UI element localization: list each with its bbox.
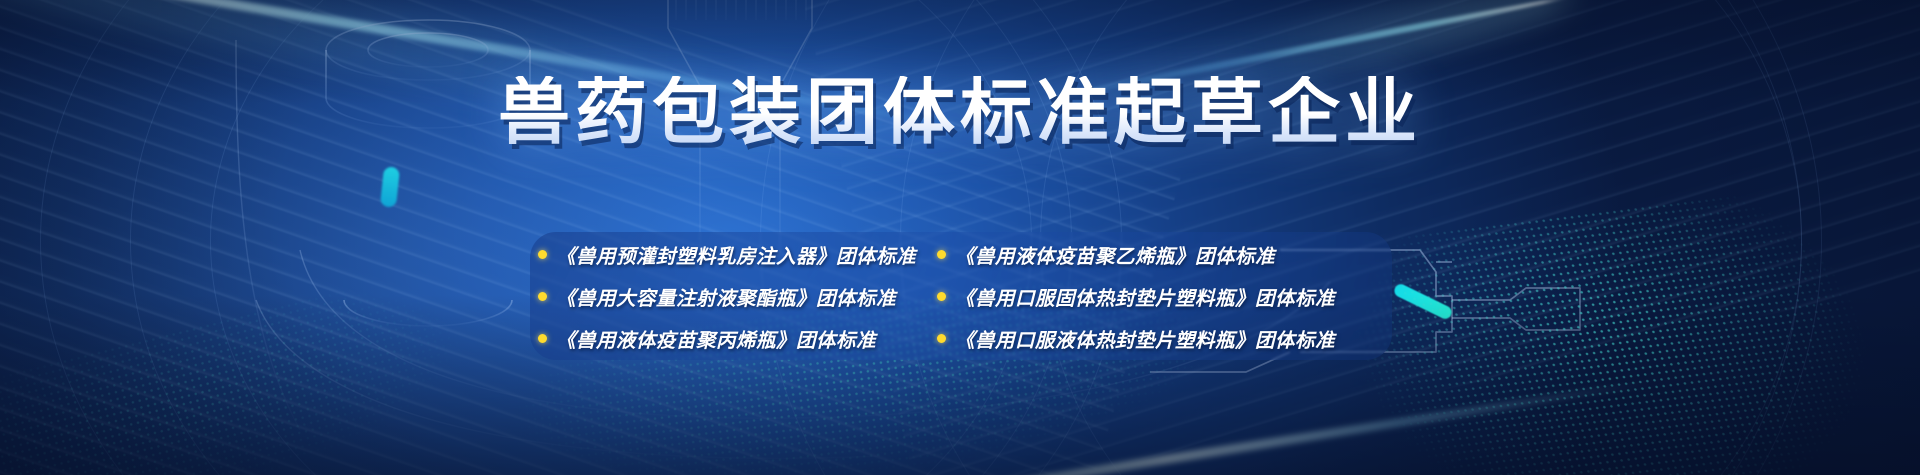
bullet-icon	[538, 334, 547, 343]
veterinary-packaging-standards-banner: 兽药包装团体标准起草企业 《兽用预灌封塑料乳房注入器》团体标准 《兽用大容量注射…	[0, 0, 1920, 475]
standards-column-right: 《兽用液体疫苗聚乙烯瓶》团体标准 《兽用口服固体热封垫片塑料瓶》团体标准 《兽用…	[925, 233, 1392, 359]
list-item: 《兽用口服液体热封垫片塑料瓶》团体标准	[937, 317, 1392, 359]
banner-content: 兽药包装团体标准起草企业 《兽用预灌封塑料乳房注入器》团体标准 《兽用大容量注射…	[0, 0, 1920, 475]
standard-label: 《兽用液体疫苗聚乙烯瓶》团体标准	[955, 240, 1275, 269]
list-item: 《兽用液体疫苗聚丙烯瓶》团体标准	[538, 317, 925, 359]
standard-label: 《兽用口服固体热封垫片塑料瓶》团体标准	[955, 282, 1335, 311]
bullet-icon	[538, 292, 547, 301]
bullet-icon	[937, 250, 946, 259]
list-item: 《兽用口服固体热封垫片塑料瓶》团体标准	[937, 275, 1392, 317]
list-item: 《兽用大容量注射液聚酯瓶》团体标准	[538, 275, 925, 317]
standard-label: 《兽用大容量注射液聚酯瓶》团体标准	[556, 282, 896, 311]
bullet-icon	[538, 250, 547, 259]
list-item: 《兽用预灌封塑料乳房注入器》团体标准	[538, 233, 925, 275]
standards-column-left: 《兽用预灌封塑料乳房注入器》团体标准 《兽用大容量注射液聚酯瓶》团体标准 《兽用…	[530, 233, 925, 359]
standard-label: 《兽用口服液体热封垫片塑料瓶》团体标准	[955, 324, 1335, 353]
standard-label: 《兽用液体疫苗聚丙烯瓶》团体标准	[556, 324, 876, 353]
standards-panel: 《兽用预灌封塑料乳房注入器》团体标准 《兽用大容量注射液聚酯瓶》团体标准 《兽用…	[530, 232, 1392, 360]
bullet-icon	[937, 334, 946, 343]
bullet-icon	[937, 292, 946, 301]
standard-label: 《兽用预灌封塑料乳房注入器》团体标准	[556, 240, 916, 269]
list-item: 《兽用液体疫苗聚乙烯瓶》团体标准	[937, 233, 1392, 275]
banner-title: 兽药包装团体标准起草企业	[0, 76, 1920, 148]
